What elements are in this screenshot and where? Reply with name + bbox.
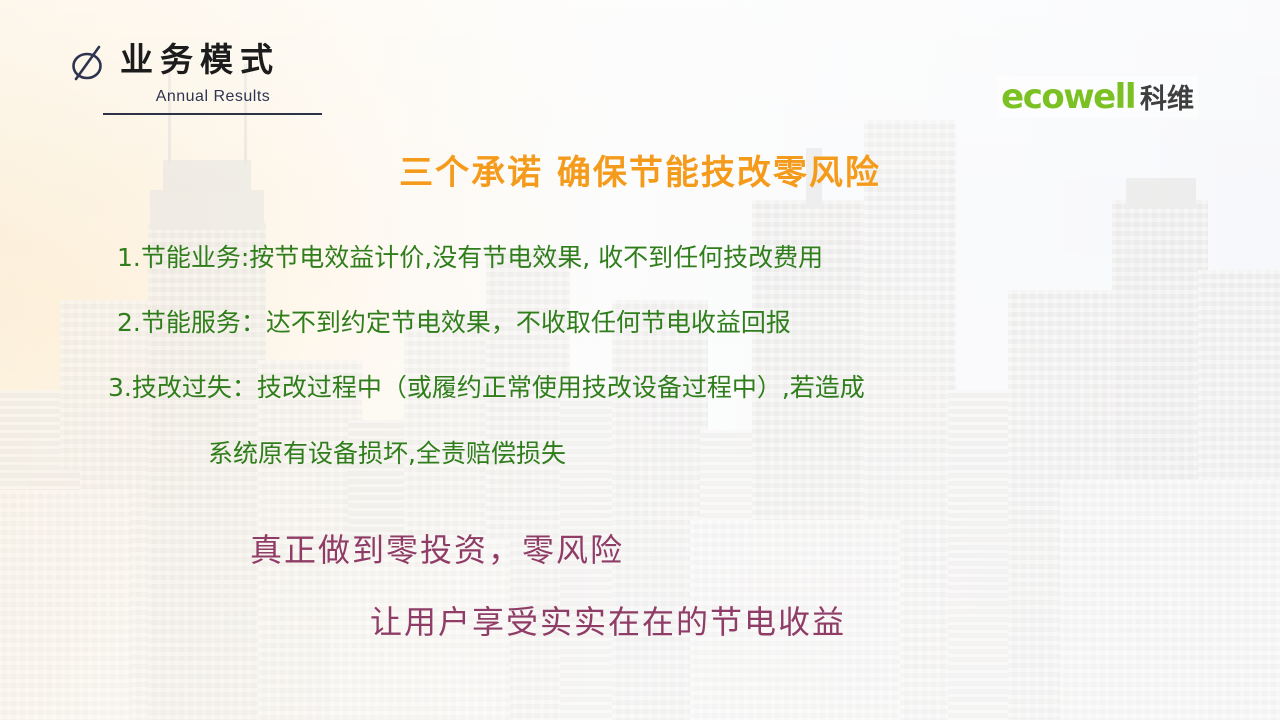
header-divider — [103, 113, 322, 115]
company-logo: ecowell 科维 — [997, 76, 1198, 118]
page-title: 业务模式 — [120, 33, 280, 81]
logo-chinese-name: 科维 — [1140, 77, 1194, 116]
list-item: 2.节能服务：达不到约定节电效果，不收取任何节电收益回报 — [117, 303, 791, 339]
list-item: 1.节能业务:按节电效益计价,没有节电效果, 收不到任何技改费用 — [117, 238, 823, 274]
list-item: 3.技改过失：技改过程中（或履约正常使用技改设备过程中）,若造成 — [108, 368, 865, 404]
logo-wordmark: ecowell — [1001, 77, 1135, 117]
slashed-circle-icon — [70, 41, 106, 83]
list-item-continuation: 系统原有设备损坏,全责赔偿损失 — [208, 434, 566, 470]
presentation-slide: 业务模式 Annual Results ecowell 科维 三个承诺 确保节能… — [0, 0, 1280, 720]
section-headline: 三个承诺 确保节能技改零风险 — [0, 145, 1280, 194]
page-subtitle: Annual Results — [103, 88, 323, 106]
closing-line-2: 让用户享受实实在在的节电收益 — [370, 597, 846, 643]
closing-line-1: 真正做到零投资，零风险 — [250, 525, 624, 571]
